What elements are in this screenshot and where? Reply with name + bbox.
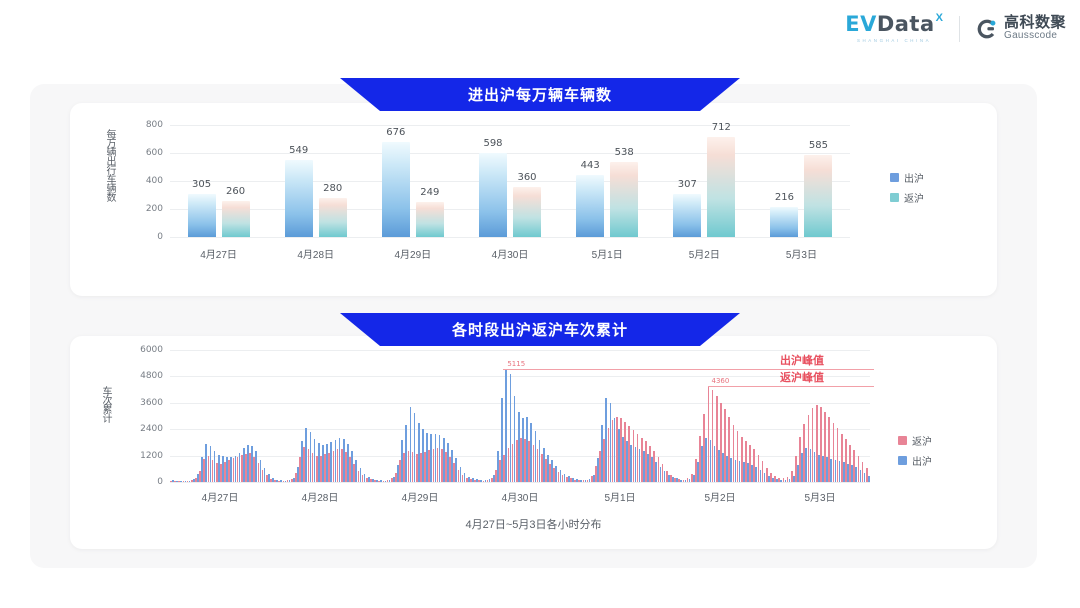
legend-swatch	[898, 436, 907, 445]
evdata-x-icon: X	[936, 12, 943, 24]
bar-chart-x-tick: 5月3日	[786, 246, 817, 261]
gausscode-en: Gausscode	[1004, 31, 1066, 42]
bar-chart-gridline	[170, 125, 850, 126]
peak-value-出沪峰值: 5115	[507, 360, 525, 368]
bar-chart-x-tick: 5月1日	[592, 246, 623, 261]
hourly-chart-card: 车次累计 51154360 返沪出沪 4月27日~5月3日各小时分布 01200…	[70, 336, 997, 549]
bar-chart-x-tick: 4月27日	[200, 246, 237, 261]
line-chart-title: 各时段出沪返沪车次累计	[452, 319, 628, 340]
bar-value-label: 549	[289, 145, 308, 156]
hourly-chart-gridline	[170, 350, 870, 351]
bar-返沪-4月28日	[319, 198, 347, 237]
hourly-chart-y-axis-label: 车次累计	[98, 386, 113, 422]
bar-返沪-5月1日	[610, 162, 638, 237]
bar-chart-plot-area	[170, 125, 850, 237]
bar-value-label: 676	[386, 127, 405, 138]
bar-chart-title: 进出沪每万辆车辆数	[468, 84, 612, 105]
evdata-wordmark: EVData	[845, 14, 934, 35]
hourly-chart-gridline	[170, 403, 870, 404]
legend-item-返沪: 返沪	[890, 190, 924, 205]
evdata-wordmark-data: Data	[877, 12, 935, 36]
bar-chart-y-axis-label: 每万辆出行车辆数	[102, 129, 117, 237]
bar-返沪-5月2日	[707, 137, 735, 237]
bar-出沪-4月27日	[188, 194, 216, 237]
hourly-chart-x-tick: 4月28日	[302, 489, 339, 504]
bar-chart-x-tick: 5月2日	[689, 246, 720, 261]
bar-value-label: 598	[483, 138, 502, 149]
bar-value-label: 443	[581, 160, 600, 171]
bar-value-label: 216	[775, 192, 794, 203]
bar-chart-x-tick: 4月28日	[297, 246, 334, 261]
bar-返沪-4月27日	[222, 201, 250, 237]
hourly-chart-x-tick: 5月2日	[704, 489, 735, 504]
hourly-chart-legend: 返沪出沪	[898, 433, 932, 468]
bar-chart-y-tick: 600	[123, 148, 163, 158]
peak-label-出沪峰值: 出沪峰值	[780, 352, 824, 368]
bar-value-label: 585	[809, 140, 828, 151]
hourly-bar-outbound	[868, 476, 870, 482]
peak-value-返沪峰值: 4360	[712, 377, 730, 385]
hourly-chart-plot-area: 51154360	[170, 350, 870, 482]
hourly-chart-gridline	[170, 482, 870, 483]
hourly-chart-x-tick: 4月30日	[502, 489, 539, 504]
hourly-chart-y-tick: 3600	[123, 398, 163, 408]
bar-value-label: 249	[420, 187, 439, 198]
logo-divider	[959, 16, 960, 42]
legend-label: 出沪	[904, 170, 924, 185]
bar-出沪-4月28日	[285, 160, 313, 237]
bar-chart-y-tick: 400	[123, 176, 163, 186]
bar-value-label: 538	[615, 147, 634, 158]
hourly-chart-gridline	[170, 429, 870, 430]
bar-chart-card: 每万辆出行车辆数 出沪返沪 02004006008003052604月27日54…	[70, 103, 997, 296]
legend-label: 返沪	[904, 190, 924, 205]
hourly-chart-x-tick: 4月27日	[202, 489, 239, 504]
hourly-chart-x-tick: 5月1日	[604, 489, 635, 504]
legend-item-出沪: 出沪	[898, 453, 932, 468]
hourly-chart-y-tick: 6000	[123, 345, 163, 355]
bar-chart-legend: 出沪返沪	[890, 170, 924, 205]
bar-value-label: 712	[712, 122, 731, 133]
bar-value-label: 360	[517, 172, 536, 183]
evdata-wordmark-ev: EV	[845, 12, 877, 36]
bar-value-label: 307	[678, 179, 697, 190]
bar-出沪-4月30日	[479, 153, 507, 237]
gausscode-mark-icon	[976, 18, 998, 40]
peak-label-返沪峰值: 返沪峰值	[780, 369, 824, 385]
hourly-chart-x-tick: 5月3日	[804, 489, 835, 504]
bar-value-label: 260	[226, 186, 245, 197]
bar-chart-title-banner: 进出沪每万辆车辆数	[340, 78, 740, 111]
evdata-subtitle: SHANGHAI CHINA	[857, 38, 931, 43]
peak-line-返沪峰值	[708, 386, 875, 387]
legend-swatch	[890, 173, 899, 182]
gausscode-text: 高科数聚 Gausscode	[1004, 15, 1066, 41]
bar-出沪-5月2日	[673, 194, 701, 237]
legend-label: 返沪	[912, 433, 932, 448]
gausscode-cn: 高科数聚	[1004, 15, 1066, 31]
bar-chart-y-tick: 800	[123, 120, 163, 130]
hourly-chart-y-tick: 1200	[123, 451, 163, 461]
slide-root: EVData X SHANGHAI CHINA 高科数聚 Gausscode 进…	[0, 0, 1080, 608]
bar-返沪-4月29日	[416, 202, 444, 237]
hourly-chart-y-tick: 0	[123, 477, 163, 487]
hourly-chart-caption: 4月27日~5月3日各小时分布	[70, 516, 997, 532]
bar-chart-x-tick: 4月30日	[492, 246, 529, 261]
bar-出沪-5月3日	[770, 207, 798, 237]
bar-chart-y-tick: 0	[123, 232, 163, 242]
bar-chart-gridline	[170, 153, 850, 154]
legend-label: 出沪	[912, 453, 932, 468]
bar-chart-gridline	[170, 237, 850, 238]
gausscode-logo: 高科数聚 Gausscode	[976, 15, 1066, 41]
hourly-chart-gridline	[170, 376, 870, 377]
bar-出沪-5月1日	[576, 175, 604, 237]
line-chart-title-banner: 各时段出沪返沪车次累计	[340, 313, 740, 346]
hourly-chart-y-tick: 4800	[123, 371, 163, 381]
bar-返沪-4月30日	[513, 187, 541, 237]
evdata-logo: EVData X SHANGHAI CHINA	[845, 14, 943, 43]
bar-value-label: 280	[323, 183, 342, 194]
hourly-chart-y-tick: 2400	[123, 424, 163, 434]
legend-item-出沪: 出沪	[890, 170, 924, 185]
bar-chart-y-tick: 200	[123, 204, 163, 214]
bar-返沪-5月3日	[804, 155, 832, 237]
bar-chart-x-tick: 4月29日	[395, 246, 432, 261]
bar-chart-gridline	[170, 209, 850, 210]
bar-出沪-4月29日	[382, 142, 410, 237]
legend-swatch	[890, 193, 899, 202]
logo-bar: EVData X SHANGHAI CHINA 高科数聚 Gausscode	[845, 14, 1066, 43]
bar-chart-gridline	[170, 181, 850, 182]
bar-value-label: 305	[192, 179, 211, 190]
hourly-chart-x-tick: 4月29日	[402, 489, 439, 504]
legend-item-返沪: 返沪	[898, 433, 932, 448]
legend-swatch	[898, 456, 907, 465]
